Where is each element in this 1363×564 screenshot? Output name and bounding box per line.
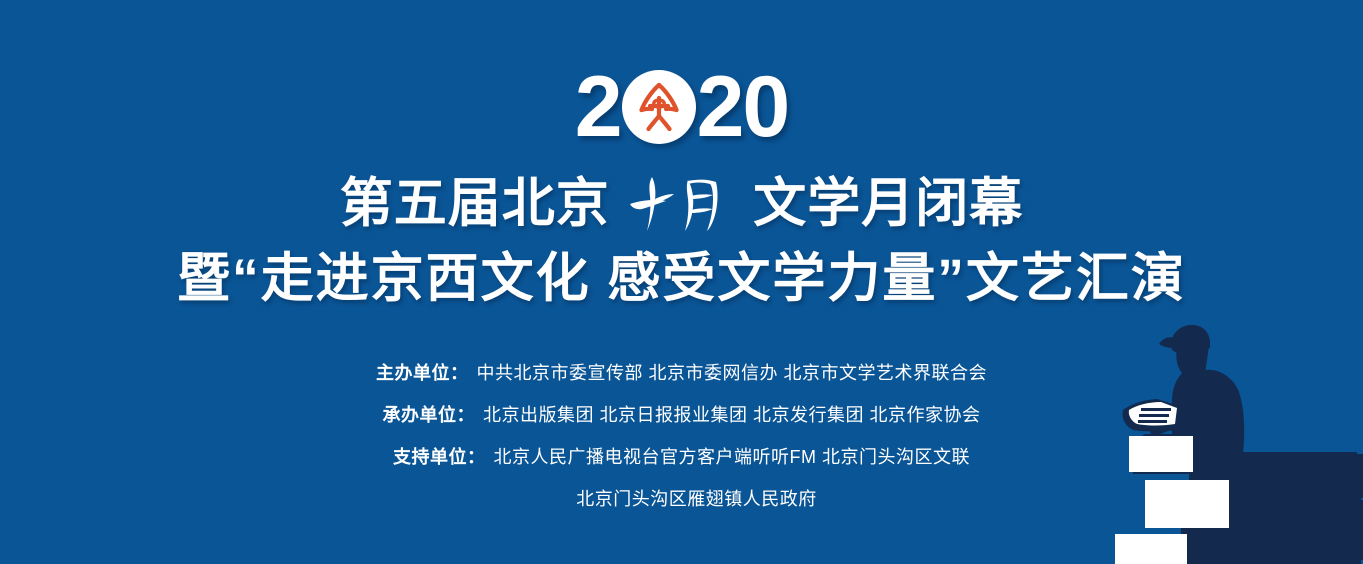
year-logo: 2 20 (0, 64, 1363, 150)
credit-value-hosts: 北京出版集团 北京日报报业集团 北京发行集团 北京作家协会 (483, 405, 981, 425)
title-part-one: 第五届北京 (340, 175, 610, 233)
year-digit-trailing: 20 (697, 64, 789, 150)
brush-calligraphy-shiyue-icon (628, 173, 736, 235)
credit-line-organizers: 主办单位：中共北京市委宣传部 北京市委网信办 北京市文学艺术界联合会 (0, 352, 1363, 394)
credit-label-hosts: 承办单位： (382, 405, 475, 425)
credit-line-hosts: 承办单位：北京出版集团 北京日报报业集团 北京发行集团 北京作家协会 (0, 394, 1363, 436)
page-title: 第五届北京 文学月闭幕 (0, 172, 1363, 235)
year-digit-leading: 2 (575, 64, 621, 150)
credit-value-organizers: 中共北京市委宣传部 北京市委网信办 北京市文学艺术界联合会 (477, 363, 988, 383)
credit-label-organizers: 主办单位： (376, 363, 469, 383)
credit-label-supporters: 支持单位： (393, 447, 486, 467)
october-literature-festival-emblem-icon (622, 70, 696, 144)
credit-value-supporters: 北京人民广播电视台官方客户端听听FM 北京门头沟区文联 (494, 447, 971, 467)
page-subtitle: 暨“走进京西文化 感受文学力量”文艺汇演 (0, 248, 1363, 310)
credits-block: 主办单位：中共北京市委宣传部 北京市委网信办 北京市文学艺术界联合会 承办单位：… (0, 352, 1363, 520)
credit-line-supporters-continued: 北京门头沟区雁翅镇人民政府 (0, 478, 1363, 520)
poster-banner: 2 20 第五届北京 (0, 0, 1363, 564)
credit-line-supporters: 支持单位：北京人民广播电视台官方客户端听听FM 北京门头沟区文联 (0, 436, 1363, 478)
credit-value-supporters-continued: 北京门头沟区雁翅镇人民政府 (576, 489, 817, 509)
title-part-two: 文学月闭幕 (753, 175, 1023, 233)
